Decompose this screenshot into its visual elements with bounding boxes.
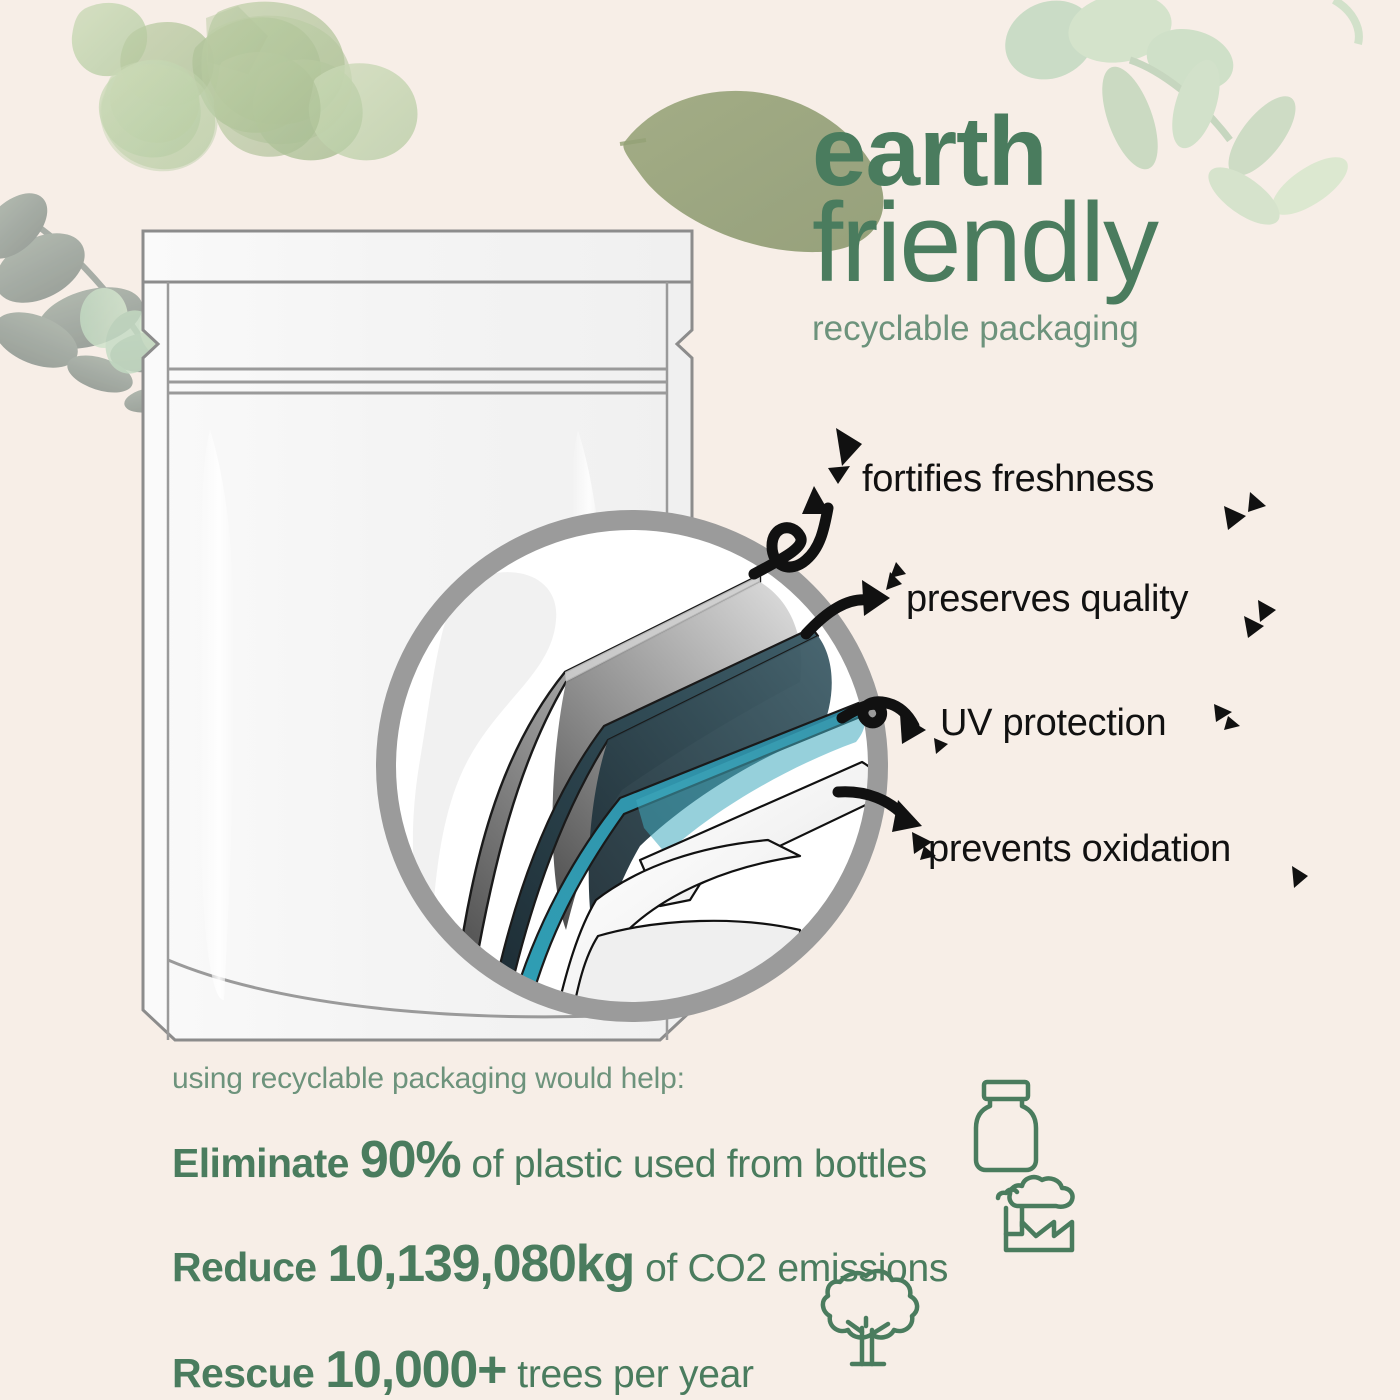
- stat-verb: Reduce: [172, 1244, 317, 1291]
- factory-icon: [988, 1168, 1084, 1258]
- stat-value: 10,139,080kg: [328, 1234, 635, 1294]
- tree-icon: [800, 1268, 924, 1380]
- infographic-canvas: earth friendly recyclable packaging fort…: [0, 0, 1400, 1400]
- stat-verb: Eliminate: [172, 1140, 349, 1187]
- stat-value: 90%: [360, 1130, 460, 1190]
- stat-row: Eliminate 90% of plastic used from bottl…: [172, 1130, 992, 1190]
- feature-label-uv-protection: UV protection: [940, 702, 1166, 745]
- feature-label-prevents-oxidation: prevents oxidation: [928, 828, 1231, 871]
- bottle-icon: [966, 1078, 1046, 1174]
- stat-verb: Rescue: [172, 1350, 314, 1397]
- headline-block: earth friendly recyclable packaging: [812, 106, 1332, 349]
- stat-tail: trees per year: [517, 1353, 753, 1397]
- stat-value: 10,000+: [325, 1340, 506, 1400]
- headline-line-2: friendly: [812, 190, 1332, 296]
- stat-tail: of plastic used from bottles: [471, 1143, 927, 1187]
- stats-lead-text: using recyclable packaging would help:: [172, 1062, 992, 1096]
- feature-label-preserves-quality: preserves quality: [906, 578, 1188, 621]
- feature-label-fortifies-freshness: fortifies freshness: [862, 458, 1154, 501]
- headline-subtitle: recyclable packaging: [812, 309, 1332, 349]
